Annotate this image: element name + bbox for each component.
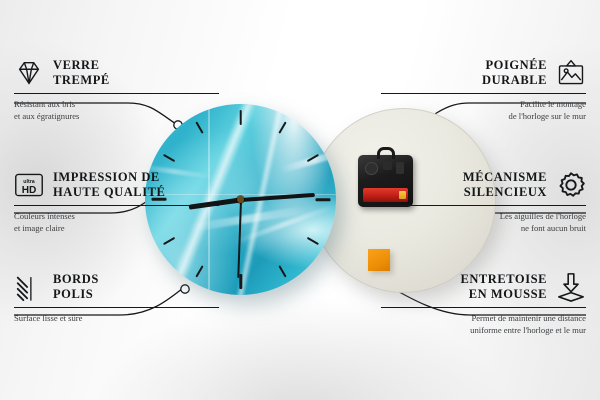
feature-poignee-durable: POIGNÉE DURABLE Facilite le montage de l… bbox=[381, 58, 586, 123]
gear-icon bbox=[556, 170, 586, 200]
feature-description: Les aiguilles de l'horloge ne font aucun… bbox=[381, 211, 586, 235]
feature-description: Permet de maintenir une distance uniform… bbox=[381, 313, 586, 337]
divider bbox=[381, 307, 586, 308]
hour-marker bbox=[162, 237, 174, 245]
infographic-canvas: VERRE TREMPÉ Résistant aux bris et aux é… bbox=[0, 0, 600, 400]
hanging-frame-icon bbox=[556, 58, 586, 88]
feature-description: Facilite le montage de l'horloge sur le … bbox=[381, 99, 586, 123]
hour-marker bbox=[278, 265, 286, 277]
divider bbox=[381, 205, 586, 206]
foam-spacer bbox=[368, 249, 390, 271]
divider bbox=[14, 205, 219, 206]
feature-title: ENTRETOISE EN MOUSSE bbox=[460, 272, 547, 303]
feature-title: BORDS POLIS bbox=[53, 272, 99, 303]
feature-bords-polis: BORDS POLIS Surface lisse et sûre bbox=[14, 272, 219, 325]
feature-title: IMPRESSION DE HAUTE QUALITÉ bbox=[53, 170, 165, 201]
hour-marker bbox=[162, 154, 174, 162]
diamond-icon bbox=[14, 58, 44, 88]
hour-marker bbox=[315, 198, 330, 201]
feature-title: VERRE TREMPÉ bbox=[53, 58, 110, 89]
divider bbox=[14, 93, 219, 94]
polished-edges-icon bbox=[14, 272, 44, 302]
feature-entretoise-en-mousse: ENTRETOISE EN MOUSSE Permet de maintenir… bbox=[381, 272, 586, 337]
feature-description: Couleurs intenses et image claire bbox=[14, 211, 219, 235]
divider bbox=[381, 93, 586, 94]
hand-center-cap bbox=[237, 196, 244, 203]
feature-mecanisme-silencieux: MÉCANISME SILENCIEUX Les aiguilles de l'… bbox=[381, 170, 586, 235]
divider bbox=[14, 307, 219, 308]
mechanism-dial bbox=[365, 162, 378, 175]
hour-marker bbox=[239, 274, 242, 289]
hour-marker bbox=[239, 110, 242, 125]
feature-description: Résistant aux bris et aux égratignures bbox=[14, 99, 219, 123]
feature-verre-trempe: VERRE TREMPÉ Résistant aux bris et aux é… bbox=[14, 58, 219, 123]
feature-title: MÉCANISME SILENCIEUX bbox=[463, 170, 547, 201]
hanging-loop-icon bbox=[377, 147, 395, 159]
ultra-hd-badge-icon: ultra HD bbox=[14, 170, 44, 200]
arrow-onto-layers-icon bbox=[556, 272, 586, 302]
hour-marker bbox=[195, 121, 203, 133]
feature-description: Surface lisse et sûre bbox=[14, 313, 219, 325]
hour-marker bbox=[306, 237, 318, 245]
feature-title: POIGNÉE DURABLE bbox=[482, 58, 547, 89]
mechanism-detail bbox=[383, 161, 392, 170]
feature-impression-haute-qualite: ultra HD IMPRESSION DE HAUTE QUALITÉ Cou… bbox=[14, 170, 219, 235]
svg-text:HD: HD bbox=[22, 185, 37, 196]
